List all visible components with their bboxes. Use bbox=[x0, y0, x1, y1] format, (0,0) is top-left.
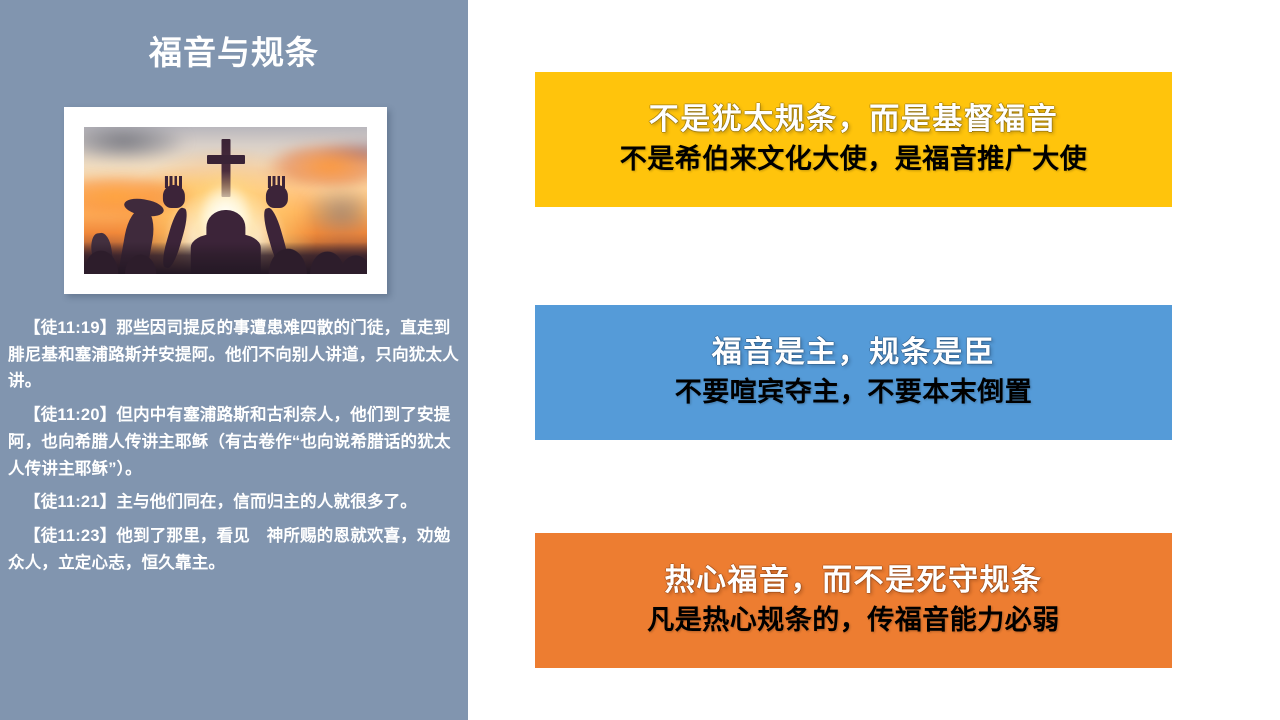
banner-zeal-for-gospel: 热心福音，而不是死守规条 凡是热心规条的，传福音能力必弱 bbox=[535, 533, 1172, 668]
worshipper-left-hand bbox=[163, 185, 185, 209]
banner-gospel-vs-rules: 不是犹太规条，而是基督福音 不是希伯来文化大使，是福音推广大使 bbox=[535, 72, 1172, 207]
banner-subline: 凡是热心规条的，传福音能力必弱 bbox=[647, 604, 1060, 638]
worshipper-right-hand bbox=[266, 185, 288, 209]
worship-photo bbox=[84, 127, 367, 274]
presentation-slide: 福音与规条 bbox=[0, 0, 1280, 720]
scripture-verse: 【徒11:20】但内中有塞浦路斯和古利奈人，他们到了安提阿，也向希腊人传讲主耶稣… bbox=[8, 402, 460, 482]
scripture-verse: 【徒11:23】他到了那里，看见 神所赐的恩就欢喜，劝勉众人，立定心志，恒久靠主… bbox=[8, 523, 460, 576]
page-title: 福音与规条 bbox=[0, 33, 468, 73]
banner-subline: 不是希伯来文化大使，是福音推广大使 bbox=[620, 143, 1088, 177]
banner-gospel-is-lord: 福音是主，规条是臣 不要喧宾夺主，不要本末倒置 bbox=[535, 305, 1172, 440]
right-haze bbox=[282, 189, 367, 248]
scripture-verse: 【徒11:21】主与他们同在，信而归主的人就很多了。 bbox=[8, 489, 460, 516]
banner-subline: 不要喧宾夺主，不要本末倒置 bbox=[675, 376, 1033, 410]
banner-headline: 不是犹太规条，而是基督福音 bbox=[649, 102, 1059, 139]
sidebar-panel: 福音与规条 bbox=[0, 0, 468, 720]
banner-headline: 福音是主，规条是臣 bbox=[712, 335, 996, 372]
worship-photo-frame bbox=[64, 107, 387, 294]
scripture-verse: 【徒11:19】那些因司提反的事遭患难四散的门徒，直走到腓尼基和塞浦路斯并安提阿… bbox=[8, 315, 460, 395]
banner-headline: 热心福音，而不是死守规条 bbox=[665, 563, 1043, 600]
scripture-list: 【徒11:19】那些因司提反的事遭患难四散的门徒，直走到腓尼基和塞浦路斯并安提阿… bbox=[8, 315, 460, 583]
cross-horizontal-bar bbox=[207, 155, 245, 164]
crowd-silhouette bbox=[84, 242, 367, 274]
